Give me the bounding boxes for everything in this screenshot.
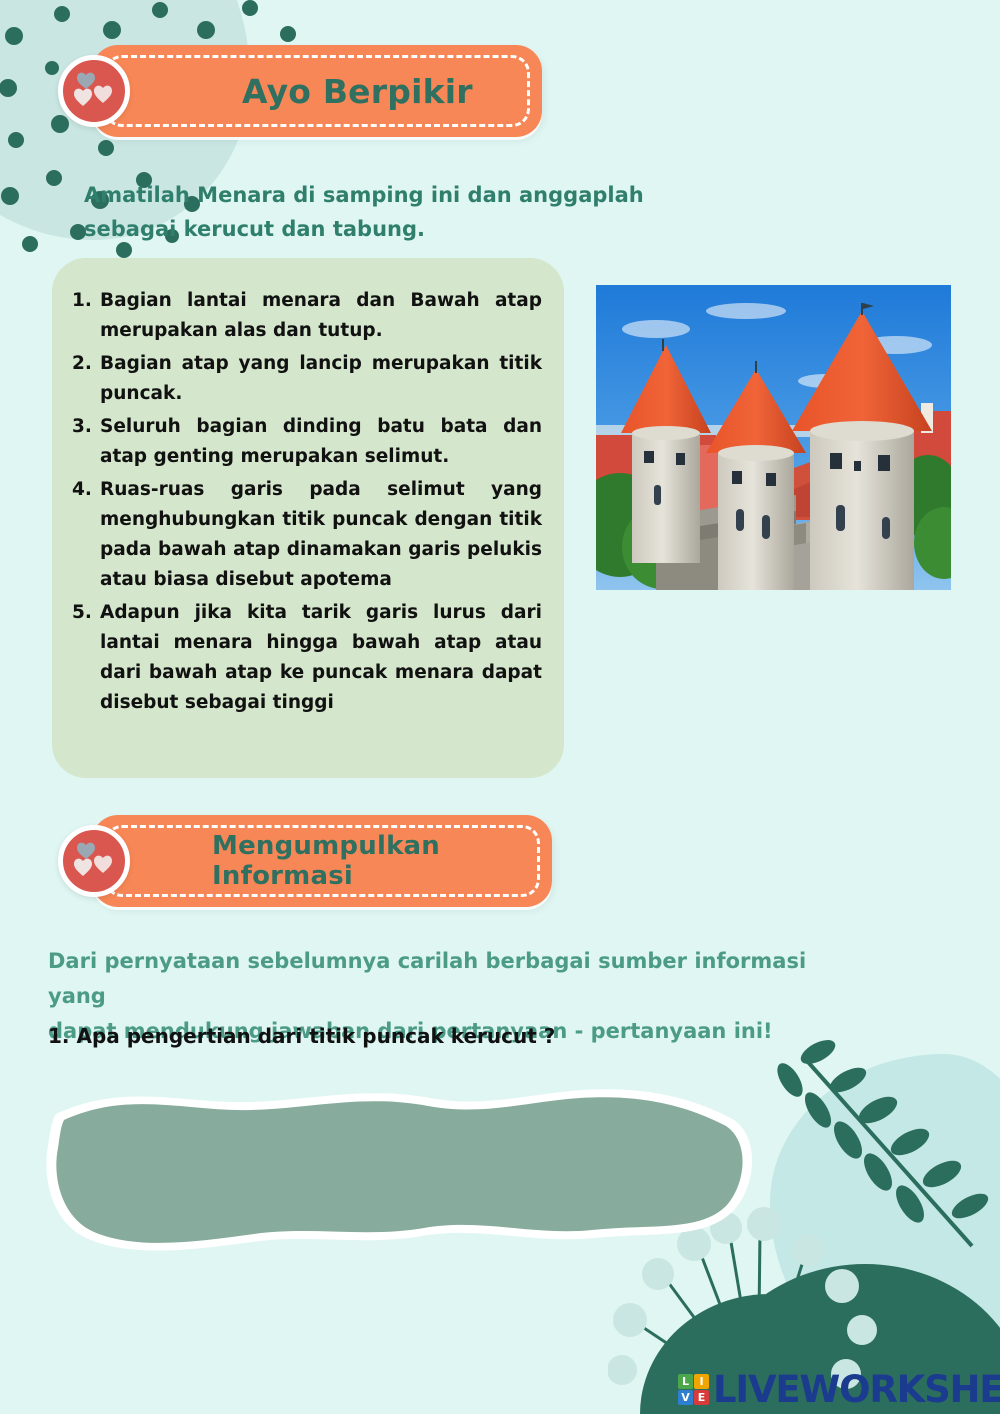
definitions-list: Bagian lantai menara dan Bawah atap meru… bbox=[68, 286, 542, 718]
list-item: Adapun jika kita tarik garis lurus dari … bbox=[68, 598, 542, 718]
list-item: Bagian lantai menara dan Bawah atap meru… bbox=[68, 286, 542, 346]
logo-cell-e: E bbox=[694, 1390, 709, 1405]
definitions-list-box: Bagian lantai menara dan Bawah atap meru… bbox=[52, 258, 564, 778]
logo-cell-i: I bbox=[694, 1374, 709, 1389]
list-item: Bagian atap yang lancip merupakan titik … bbox=[68, 349, 542, 409]
hearts-icon bbox=[72, 71, 116, 111]
tower-photo-illustration bbox=[596, 285, 951, 590]
leaf-branch-icon bbox=[760, 1034, 990, 1264]
logo-cell-l: L bbox=[678, 1374, 693, 1389]
list-item: Ruas-ruas garis pada selimut yang menghu… bbox=[68, 475, 542, 595]
answer-blob-shape[interactable] bbox=[34, 1068, 774, 1268]
hearts-badge bbox=[58, 825, 130, 897]
section-banner-collect: Mengumpulkan Informasi bbox=[58, 815, 552, 907]
hearts-badge bbox=[58, 55, 130, 127]
liveworksheets-wordmark: LIVEWORKSHEETS bbox=[713, 1371, 1000, 1408]
banner-bar-think: Ayo Berpikir bbox=[92, 45, 542, 137]
intro-line-1: Amatilah Menara di samping ini dan angga… bbox=[84, 178, 704, 212]
section-title-think: Ayo Berpikir bbox=[242, 72, 473, 111]
liveworksheets-logo-icon: L I V E bbox=[678, 1374, 709, 1405]
blob-bottom-right bbox=[770, 1054, 1000, 1384]
intro-line-2: sebagai kerucut dan tabung. bbox=[84, 212, 704, 246]
liveworksheets-watermark: L I V E LIVEWORKSHEETS bbox=[678, 1371, 1000, 1408]
collect-instructions-line-1: Dari pernyataan sebelumnya carilah berba… bbox=[48, 944, 868, 1014]
section-title-collect: Mengumpulkan Informasi bbox=[212, 831, 552, 891]
section-banner-think: Ayo Berpikir bbox=[58, 45, 542, 137]
intro-paragraph: Amatilah Menara di samping ini dan angga… bbox=[84, 178, 704, 246]
question-1: 1. Apa pengertian dari titik puncak keru… bbox=[48, 1024, 748, 1048]
list-item: Seluruh bagian dinding batu bata dan ata… bbox=[68, 412, 542, 472]
banner-bar-collect: Mengumpulkan Informasi bbox=[92, 815, 552, 907]
hearts-icon bbox=[72, 841, 116, 881]
answer-field-1[interactable] bbox=[34, 1068, 774, 1268]
logo-cell-v: V bbox=[678, 1390, 693, 1405]
tower-photo bbox=[596, 285, 951, 590]
